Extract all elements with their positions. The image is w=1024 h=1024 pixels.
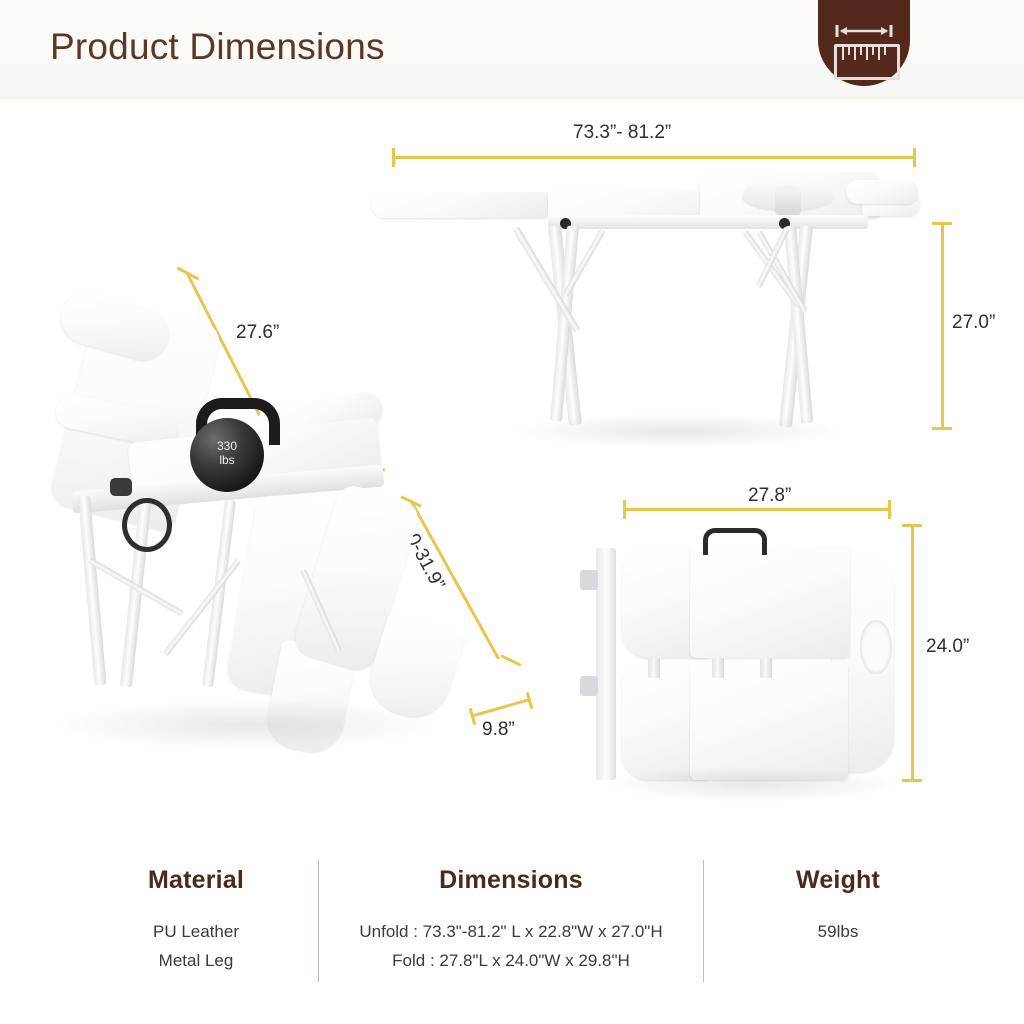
folded-leg-stub-a: [648, 658, 660, 678]
folded-leg-stub-b: [712, 658, 724, 678]
ruler-measure-icon: [818, 0, 910, 86]
dim-label-height: 27.0”: [952, 312, 995, 334]
folded-bracket-bottom: [580, 676, 598, 696]
recline-ring: [122, 498, 172, 552]
dim-label-backrest: 27.6”: [236, 322, 279, 344]
spec-value-dimensions-2: Fold : 27.8"L x 24.0"W x 29.8"H: [326, 946, 696, 975]
table-foot-pad: [372, 192, 548, 218]
kettlebell-ball: 330 lbs: [190, 418, 264, 492]
measure-cap-leg-bottom: [500, 654, 521, 666]
spec-heading-material: Material: [96, 866, 296, 895]
double-arrow-icon: [834, 24, 894, 38]
dim-label-footrest: 9.8”: [482, 719, 515, 741]
measure-line-footrest: [474, 698, 531, 717]
measure-cap-fold-right: [888, 500, 891, 519]
folded-leg-stub-c: [760, 658, 772, 678]
measure-cap-left: [392, 148, 395, 167]
measure-cap-right: [913, 148, 916, 167]
dim-label-length: 73.3”- 81.2”: [573, 122, 671, 144]
product-dimensions-infographic: Product Dimensions 73.3”- 81.2”: [0, 0, 1024, 1024]
spec-divider-2: [703, 860, 704, 982]
spec-value-weight-1: 59lbs: [728, 917, 948, 946]
kettlebell-weight-value: 330: [190, 440, 264, 453]
spec-column-dimensions: Dimensions Unfold : 73.3"-81.2" L x 22.8…: [326, 866, 696, 975]
dim-label-fold-width: 27.8”: [748, 485, 791, 507]
chair-floor-shadow: [56, 700, 436, 750]
measure-line-height: [941, 222, 944, 430]
table-apron: [548, 215, 868, 229]
measure-cap-fold-top: [902, 524, 922, 527]
folded-frame-rail: [596, 548, 616, 780]
measure-cap-top: [932, 222, 952, 225]
measure-cap-bottom: [932, 427, 952, 430]
spec-value-material-1: PU Leather: [96, 917, 296, 946]
spec-heading-dimensions: Dimensions: [326, 866, 696, 895]
carry-handle: [703, 528, 767, 555]
measure-line-fold-width: [623, 508, 891, 511]
dim-label-fold-height: 24.0”: [926, 636, 969, 658]
spec-table: Material PU Leather Metal Leg Dimensions…: [0, 852, 1024, 992]
page-title: Product Dimensions: [50, 26, 385, 68]
chair-leg-front-left: [78, 495, 107, 685]
folded-pad-lower-right: [690, 662, 848, 780]
folded-floor-shadow: [608, 766, 898, 802]
kettlebell-weight-unit: lbs: [190, 454, 264, 467]
face-cradle-gap: [775, 186, 801, 216]
spec-heading-weight: Weight: [728, 866, 948, 895]
spec-value-dimensions-1: Unfold : 73.3"-81.2" L x 22.8"W x 27.0"H: [326, 917, 696, 946]
measure-cap-fold-bottom: [902, 779, 922, 782]
spec-divider-1: [318, 860, 319, 982]
folded-handle-hole: [860, 620, 892, 674]
measure-line-length: [392, 156, 916, 159]
table-floor-shadow: [512, 414, 842, 448]
table-pillow: [846, 180, 918, 204]
folded-pad-upper-right: [690, 546, 850, 658]
folded-bracket-top: [580, 570, 598, 590]
spec-column-weight: Weight 59lbs: [728, 866, 948, 946]
spec-value-material-2: Metal Leg: [96, 946, 296, 975]
ruler-body-icon: [834, 44, 900, 80]
header-bar: Product Dimensions: [0, 0, 1024, 99]
recline-knob: [110, 478, 132, 496]
measure-line-fold-height: [911, 524, 914, 782]
spec-column-material: Material PU Leather Metal Leg: [96, 866, 296, 975]
measure-cap-fold-left: [623, 500, 626, 519]
